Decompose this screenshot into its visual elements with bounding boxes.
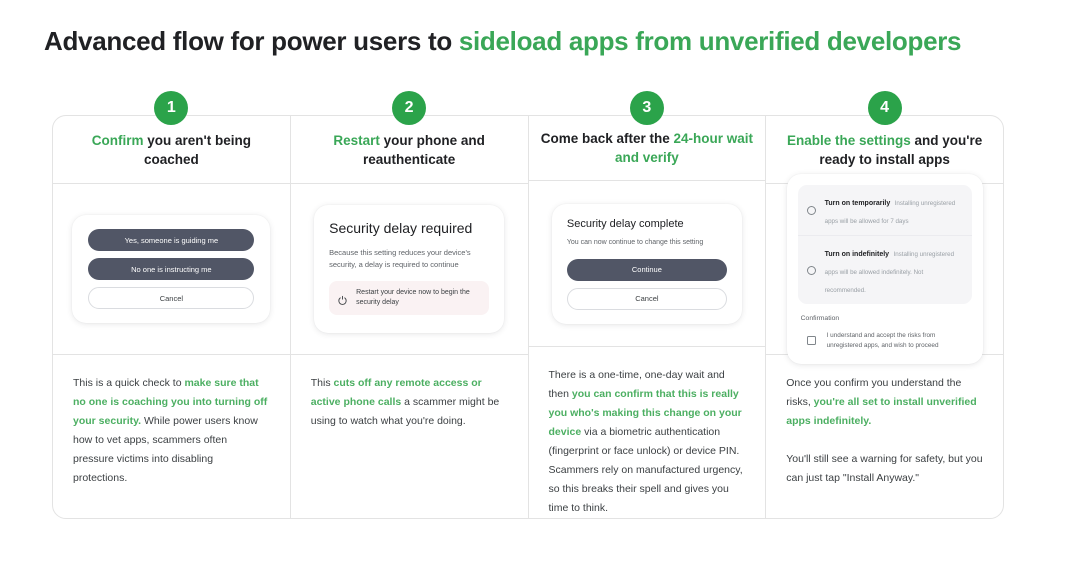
- heading-rest-2: your phone and reauthenticate: [363, 133, 485, 167]
- cancel-button[interactable]: Cancel: [567, 288, 727, 310]
- column-header-3: Come back after the 24-hour wait and ver…: [529, 116, 766, 181]
- copy-cell-4: Once you confirm you understand the risk…: [766, 355, 1003, 518]
- radio-option-title: Turn on temporarily: [825, 200, 891, 207]
- copy-cell-1: This is a quick check to make sure that …: [53, 355, 290, 518]
- step-badge-4: 4: [868, 91, 902, 125]
- security-delay-required-screen: Security delay required Because this set…: [314, 205, 504, 333]
- security-delay-body: Because this setting reduces your device…: [329, 247, 489, 271]
- confirmation-section-label: Confirmation: [801, 315, 972, 322]
- heading-accent-1: Confirm: [92, 133, 144, 148]
- flow-column-2: 2 Restart your phone and reauthenticate …: [291, 116, 529, 518]
- column-heading-text-1: Confirm you aren't being coached: [63, 131, 280, 169]
- radio-option-turn-on-temporarily[interactable]: Turn on temporarily Installing unregiste…: [798, 185, 972, 235]
- column-header-2: Restart your phone and reauthenticate: [291, 116, 528, 184]
- radio-option-title: Turn on indefinitely: [825, 251, 889, 258]
- mock-cell-4: Turn on temporarily Installing unregiste…: [766, 184, 1003, 355]
- copy-paragraph-4b: You'll still see a warning for safety, b…: [786, 450, 983, 488]
- copy-text: This is a quick check to: [73, 377, 184, 389]
- unregistered-apps-settings-screen: Turn on temporarily Installing unregiste…: [787, 174, 983, 364]
- copy-accent: you're all set to install unverified app…: [786, 396, 976, 427]
- risk-acknowledgement-label: I understand and accept the risks from u…: [827, 331, 972, 350]
- radio-circle-icon[interactable]: [807, 266, 816, 275]
- flow-column-1: 1 Confirm you aren't being coached Yes, …: [53, 116, 291, 518]
- copy-cell-3: There is a one-time, one-day wait and th…: [529, 347, 766, 518]
- page-title-lead: Advanced flow for power users to: [44, 26, 459, 56]
- power-restart-icon: [337, 293, 348, 304]
- mock-cell-3: Security delay complete You can now cont…: [529, 181, 766, 347]
- heading-lead-3: Come back after the: [541, 131, 674, 146]
- cancel-button[interactable]: Cancel: [88, 287, 254, 309]
- delay-complete-body: You can now continue to change this sett…: [567, 237, 727, 248]
- restart-device-notice-text: Restart your device now to begin the sec…: [356, 288, 481, 308]
- step-badge-2: 2: [392, 91, 426, 125]
- flow-table: 1 Confirm you aren't being coached Yes, …: [52, 115, 1004, 519]
- page-title: Advanced flow for power users to sideloa…: [44, 26, 961, 57]
- checkbox-icon[interactable]: [807, 336, 816, 345]
- copy-text: via a biometric authentication (fingerpr…: [549, 426, 743, 514]
- coaching-check-dialog: Yes, someone is guiding me No one is ins…: [72, 215, 270, 323]
- restart-device-notice[interactable]: Restart your device now to begin the sec…: [329, 281, 489, 315]
- copy-paragraph-2: This cuts off any remote access or activ…: [311, 374, 508, 431]
- copy-text: You'll still see a warning for safety, b…: [786, 453, 982, 484]
- heading-rest-1: you aren't being coached: [144, 133, 251, 167]
- flow-column-4: 4 Enable the settings and you're ready t…: [766, 116, 1003, 518]
- yes-guiding-button[interactable]: Yes, someone is guiding me: [88, 229, 254, 251]
- no-instructing-button[interactable]: No one is instructing me: [88, 258, 254, 280]
- page-title-accent: sideload apps from unverified developers: [459, 26, 961, 56]
- continue-button[interactable]: Continue: [567, 259, 727, 281]
- column-heading-text-4: Enable the settings and you're ready to …: [776, 131, 993, 169]
- copy-paragraph-3: There is a one-time, one-day wait and th…: [549, 366, 746, 518]
- step-badge-1: 1: [154, 91, 188, 125]
- install-duration-radio-group: Turn on temporarily Installing unregiste…: [798, 185, 972, 304]
- mock-cell-1: Yes, someone is guiding me No one is ins…: [53, 184, 290, 355]
- step-badge-3: 3: [630, 91, 664, 125]
- risk-acknowledgement-row[interactable]: I understand and accept the risks from u…: [798, 331, 972, 350]
- heading-accent-4: Enable the settings: [787, 133, 911, 148]
- radio-circle-icon[interactable]: [807, 206, 816, 215]
- column-heading-text-3: Come back after the 24-hour wait and ver…: [539, 129, 756, 167]
- column-header-1: Confirm you aren't being coached: [53, 116, 290, 184]
- radio-option-turn-on-indefinitely[interactable]: Turn on indefinitely Installing unregist…: [798, 235, 972, 304]
- security-delay-complete-dialog: Security delay complete You can now cont…: [552, 204, 742, 324]
- delay-complete-title: Security delay complete: [567, 218, 727, 230]
- column-heading-text-2: Restart your phone and reauthenticate: [301, 131, 518, 169]
- flow-column-3: 3 Come back after the 24-hour wait and v…: [529, 116, 767, 518]
- copy-paragraph-1: This is a quick check to make sure that …: [73, 374, 270, 488]
- mock-cell-2: Security delay required Because this set…: [291, 184, 528, 355]
- copy-text: This: [311, 377, 334, 389]
- heading-accent-2: Restart: [333, 133, 380, 148]
- copy-cell-2: This cuts off any remote access or activ…: [291, 355, 528, 518]
- copy-paragraph-4a: Once you confirm you understand the risk…: [786, 374, 983, 431]
- security-delay-title: Security delay required: [329, 219, 489, 238]
